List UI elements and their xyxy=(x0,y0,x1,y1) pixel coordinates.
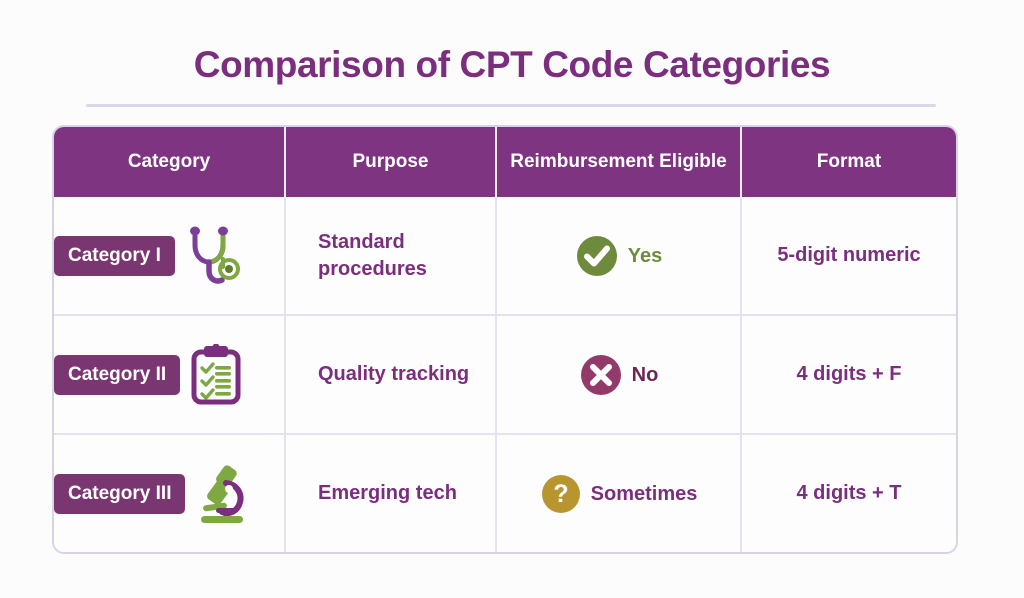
format-text: 4 digits + F xyxy=(796,361,901,388)
category-badge: Category II xyxy=(54,355,180,395)
cell-reimbursement: No xyxy=(497,316,742,433)
reimbursement-label: Yes xyxy=(628,246,662,266)
x-circle-icon xyxy=(579,353,623,397)
cell-category: Category I xyxy=(54,197,286,314)
svg-text:?: ? xyxy=(553,480,568,508)
page-title-container: Comparison of CPT Code Categories xyxy=(0,44,1024,85)
table-row: Category II xyxy=(54,316,956,435)
cell-format: 5-digit numeric xyxy=(742,197,956,314)
column-header-purpose: Purpose xyxy=(286,127,497,197)
cell-purpose: Standard procedures xyxy=(286,197,497,314)
table-body: Category I Standard procedures xyxy=(54,197,956,552)
microscope-icon xyxy=(195,463,249,525)
category-badge: Category III xyxy=(54,474,185,514)
stethoscope-icon xyxy=(185,225,241,287)
table-row: Category III Emerging tech xyxy=(54,435,956,552)
cell-category: Category II xyxy=(54,316,286,433)
format-text: 4 digits + T xyxy=(796,480,901,507)
column-header-reimbursement-eligible: Reimbursement Eligible xyxy=(497,127,742,197)
column-header-format: Format xyxy=(742,127,956,197)
title-divider xyxy=(86,104,936,107)
cpt-comparison-table: Category Purpose Reimbursement Eligible … xyxy=(52,125,958,554)
table-header-row: Category Purpose Reimbursement Eligible … xyxy=(54,127,956,197)
purpose-text: Standard procedures xyxy=(318,229,481,283)
category-badge: Category I xyxy=(54,236,175,276)
table-row: Category I Standard procedures xyxy=(54,197,956,316)
cell-reimbursement: Yes xyxy=(497,197,742,314)
cell-format: 4 digits + F xyxy=(742,316,956,433)
reimbursement-label: Sometimes xyxy=(591,484,698,504)
check-circle-icon xyxy=(575,234,619,278)
cell-format: 4 digits + T xyxy=(742,435,956,552)
column-header-category: Category xyxy=(54,127,286,197)
cell-reimbursement: ? Sometimes xyxy=(497,435,742,552)
purpose-text: Emerging tech xyxy=(318,480,457,507)
clipboard-checklist-icon xyxy=(190,344,242,406)
purpose-text: Quality tracking xyxy=(318,361,469,388)
reimbursement-label: No xyxy=(632,365,659,385)
cell-purpose: Quality tracking xyxy=(286,316,497,433)
format-text: 5-digit numeric xyxy=(777,242,920,269)
cell-purpose: Emerging tech xyxy=(286,435,497,552)
cell-category: Category III xyxy=(54,435,286,552)
page-title: Comparison of CPT Code Categories xyxy=(0,44,1024,85)
question-circle-icon: ? xyxy=(540,473,582,515)
